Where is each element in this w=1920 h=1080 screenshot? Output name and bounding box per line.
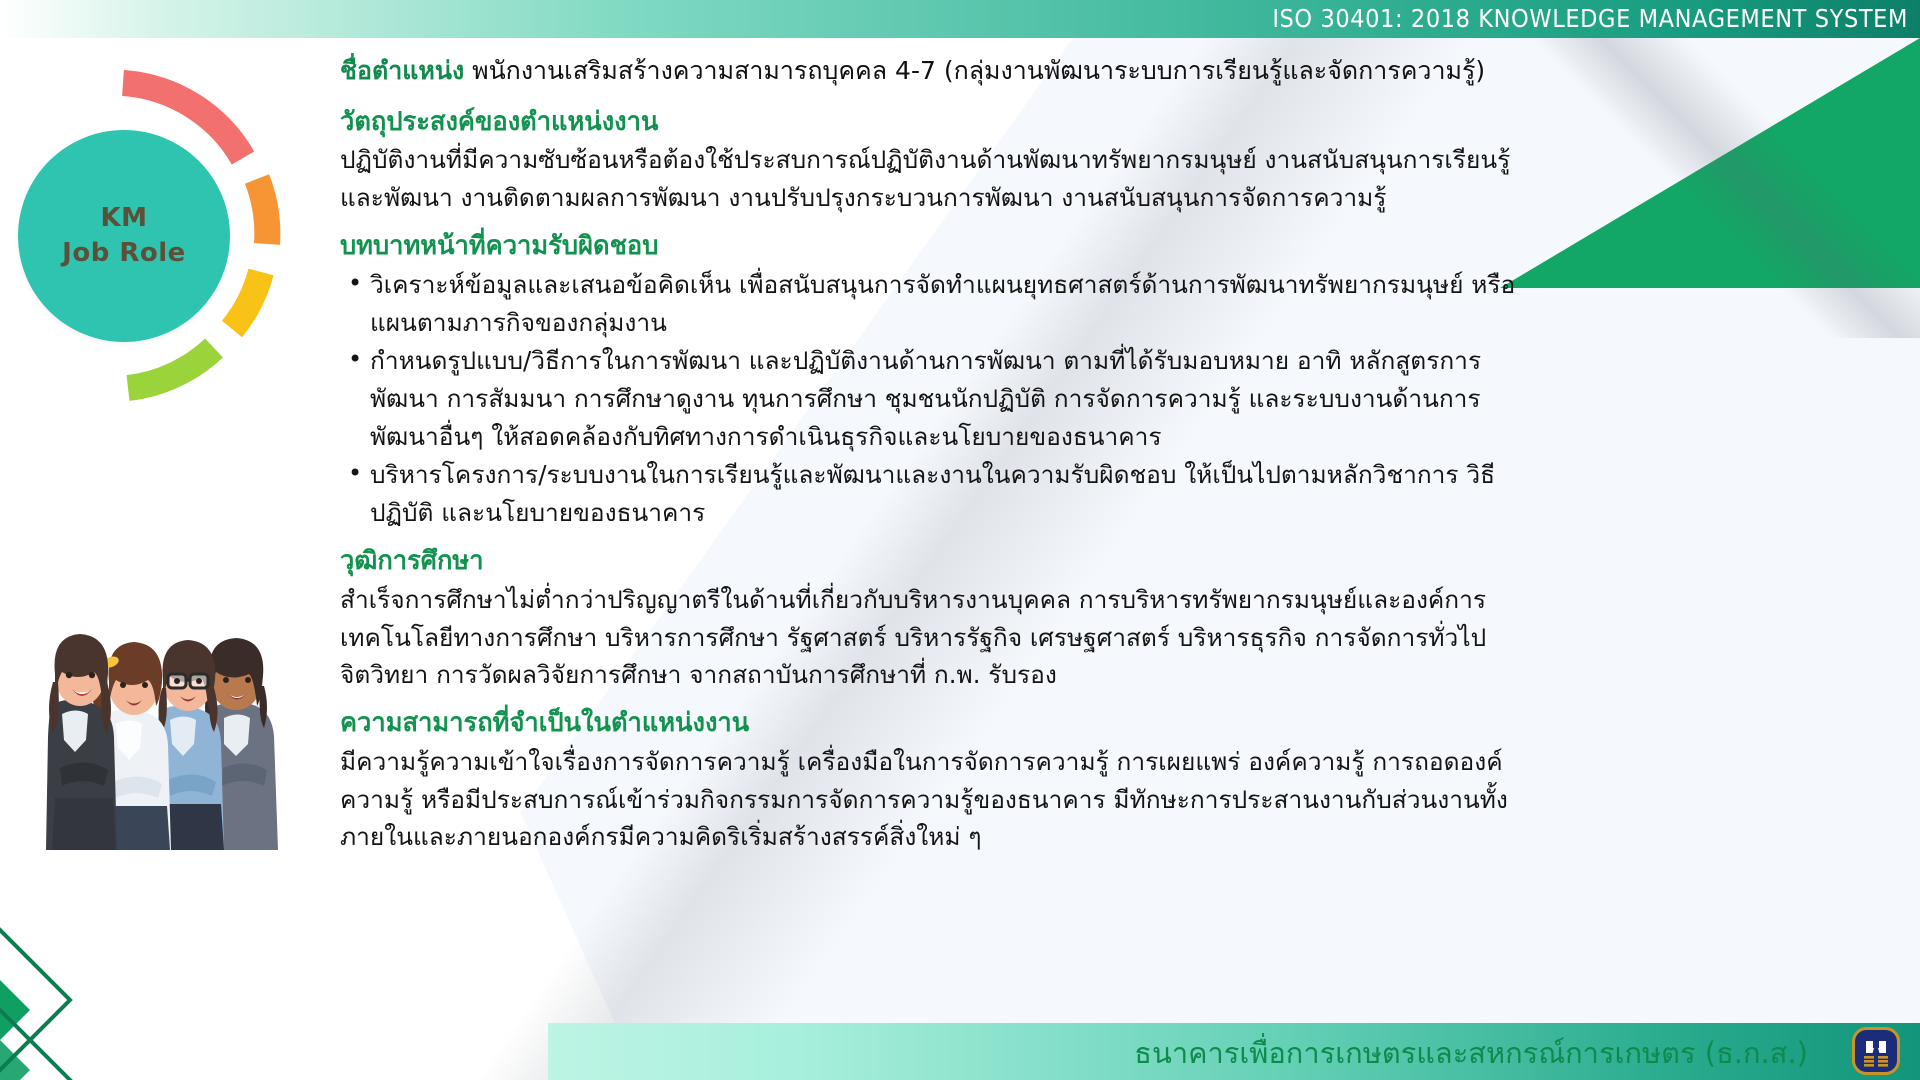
baac-logo (1852, 1027, 1900, 1075)
km-job-role-badge: KM Job Role (18, 130, 230, 342)
team-illustration-svg (20, 590, 300, 850)
responsibility-list: วิเคราะห์ข้อมูลและเสนอข้อคิดเห็น เพื่อสน… (340, 266, 1540, 532)
list-item: บริหารโครงการ/ระบบงานในการเรียนรู้และพัฒ… (340, 456, 1540, 531)
section-competencies: ความสามารถที่จำเป็นในตำแหน่งงาน มีความรู… (340, 705, 1540, 856)
list-item: กำหนดรูปแบบ/วิธีการในการพัฒนา และปฏิบัติ… (340, 342, 1540, 455)
section-objective: วัตถุประสงค์ของตำแหน่งงาน ปฏิบัติงานที่ม… (340, 104, 1540, 217)
section-heading: ความสามารถที่จำเป็นในตำแหน่งงาน (340, 705, 1540, 742)
job-title-label: ชื่อตำแหน่ง (340, 56, 464, 85)
ring-arc-orange (257, 179, 267, 244)
chevron-decoration (0, 870, 250, 1080)
section-responsibilities: บทบาทหน้าที่ความรับผิดชอบ วิเคราะห์ข้อมู… (340, 228, 1540, 532)
job-title-value: พนักงานเสริมสร้างความสามารถบุคคล 4-7 (กล… (472, 56, 1485, 85)
section-heading: บทบาทหน้าที่ความรับผิดชอบ (340, 228, 1540, 265)
job-title-line: ชื่อตำแหน่ง พนักงานเสริมสร้างความสามารถบ… (340, 52, 1540, 90)
section-heading: วุฒิการศึกษา (340, 543, 1540, 580)
person-1 (46, 634, 117, 850)
section-paragraph: ปฏิบัติงานที่มีความซับซ้อนหรือต้องใช้ประ… (340, 141, 1540, 216)
baac-logo-svg (1852, 1027, 1900, 1075)
km-badge-line1: KM (100, 201, 147, 236)
ring-arc-green (128, 348, 214, 388)
section-education: วุฒิการศึกษา สำเร็จการศึกษาไม่ต่ำกว่าปริ… (340, 543, 1540, 694)
footer-organization-name: ธนาคารเพื่อการเกษตรและสหกรณ์การเกษตร (ธ.… (1134, 1023, 1808, 1080)
header-title: ISO 30401: 2018 KNOWLEDGE MANAGEMENT SYS… (1272, 0, 1908, 38)
job-description-body: ชื่อตำแหน่ง พนักงานเสริมสร้างความสามารถบ… (340, 52, 1540, 856)
chevron-decoration-svg (0, 870, 250, 1080)
business-team-illustration (20, 590, 300, 850)
header-bar: ISO 30401: 2018 KNOWLEDGE MANAGEMENT SYS… (0, 0, 1920, 38)
list-item: วิเคราะห์ข้อมูลและเสนอข้อคิดเห็น เพื่อสน… (340, 266, 1540, 341)
section-heading: วัตถุประสงค์ของตำแหน่งงาน (340, 104, 1540, 141)
section-paragraph: สำเร็จการศึกษาไม่ต่ำกว่าปริญญาตรีในด้านท… (340, 581, 1540, 694)
slide-canvas: ISO 30401: 2018 KNOWLEDGE MANAGEMENT SYS… (0, 0, 1920, 1080)
section-paragraph: มีความรู้ความเข้าใจเรื่องการจัดการความรู… (340, 743, 1540, 856)
km-badge-line2: Job Role (62, 236, 186, 271)
ring-arc-yellow (232, 272, 261, 329)
